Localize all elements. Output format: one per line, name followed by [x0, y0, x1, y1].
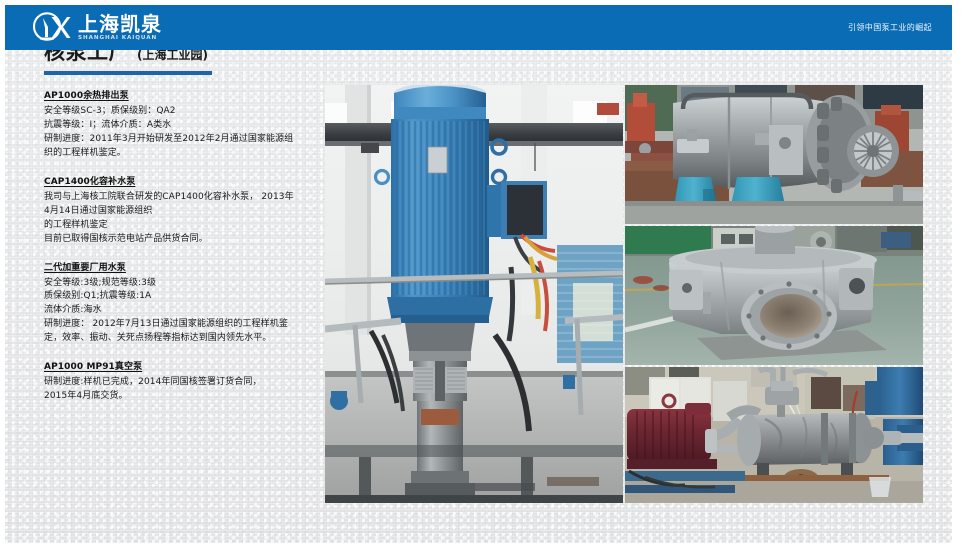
product-line: 安全等级:3级;规范等级:3级 — [44, 277, 316, 291]
logo-english-name: SHANGHAI KAIQUAN — [78, 36, 164, 42]
product-line: 质保级别:Q1;抗震等级:1A — [44, 290, 316, 304]
product-block: AP1000余热排出泵 安全等级SC-3；质保级别：QA2 抗震等级：Ⅰ；流体介… — [44, 88, 316, 161]
product-line: 流体介质:海水 — [44, 304, 316, 318]
title-underline-rule — [44, 71, 212, 75]
product-block: AP1000 MP91真空泵 研制进度:样机已完成，2014年同国核签署订货合同… — [44, 359, 316, 404]
product-line: 定，效率、振动、关死点扬程等指标达到国内领先水平。 — [44, 332, 316, 346]
slide-header-bar: 上海凯泉 SHANGHAI KAIQUAN 引领中国泵工业的崛起 — [5, 5, 952, 50]
content-text-column: 核泵工厂 (上海工业园) AP1000余热排出泵 安全等级SC-3；质保级别：Q… — [44, 36, 316, 417]
product-line: 研制进度:样机已完成，2014年同国核签署订货合同， — [44, 376, 316, 390]
vertical-pump-motor-photo — [325, 85, 623, 503]
logo-text-block: 上海凯泉 SHANGHAI KAIQUAN — [78, 14, 162, 42]
product-heading: AP1000 MP91真空泵 — [44, 359, 316, 372]
product-heading: 二代加重要厂用水泵 — [44, 260, 316, 273]
product-line: 安全等级SC-3；质保级别：QA2 — [44, 105, 316, 119]
product-line: 织的工程样机鉴定。 — [44, 147, 316, 161]
kaiquan-qx-monogram-icon — [32, 11, 72, 45]
product-line: 4月14日通过国家能源组织 — [44, 205, 316, 219]
product-heading: AP1000余热排出泵 — [44, 88, 316, 101]
product-block: 二代加重要厂用水泵 安全等级:3级;规范等级:3级 质保级别:Q1;抗震等级:1… — [44, 260, 316, 347]
presentation-slide: 上海凯泉 SHANGHAI KAIQUAN 引领中国泵工业的崛起 核泵工厂 (上… — [0, 0, 971, 548]
product-line: 抗震等级：Ⅰ；流体介质：A类水 — [44, 119, 316, 133]
product-line: 目前已取得国核示范电站产品供货合同。 — [44, 233, 316, 247]
product-heading: CAP1400化容补水泵 — [44, 174, 316, 187]
pump-casing-assembly-photo — [625, 85, 923, 224]
product-line: 研制进度：2011年3月开始研发至2012年2月通过国家能源组 — [44, 133, 316, 147]
product-block: CAP1400化容补水泵 我司与上海核工院联合研发的CAP1400化容补水泵， … — [44, 174, 316, 247]
logo-chinese-name: 上海凯泉 — [78, 14, 162, 34]
product-line: 我司与上海核工院联合研发的CAP1400化容补水泵， 2013年 — [44, 191, 316, 205]
product-line: 2015年4月底交货。 — [44, 390, 316, 404]
product-line: 的工程样机鉴定 — [44, 219, 316, 233]
header-slogan: 引领中国泵工业的崛起 — [848, 5, 932, 50]
company-logo[interactable]: 上海凯泉 SHANGHAI KAIQUAN — [32, 10, 162, 46]
pump-housing-casting-photo — [625, 226, 923, 365]
pump-test-rig-photo — [625, 367, 923, 503]
product-line: 研制进度： 2012年7月13日通过国家能源组织的工程样机鉴 — [44, 318, 316, 332]
